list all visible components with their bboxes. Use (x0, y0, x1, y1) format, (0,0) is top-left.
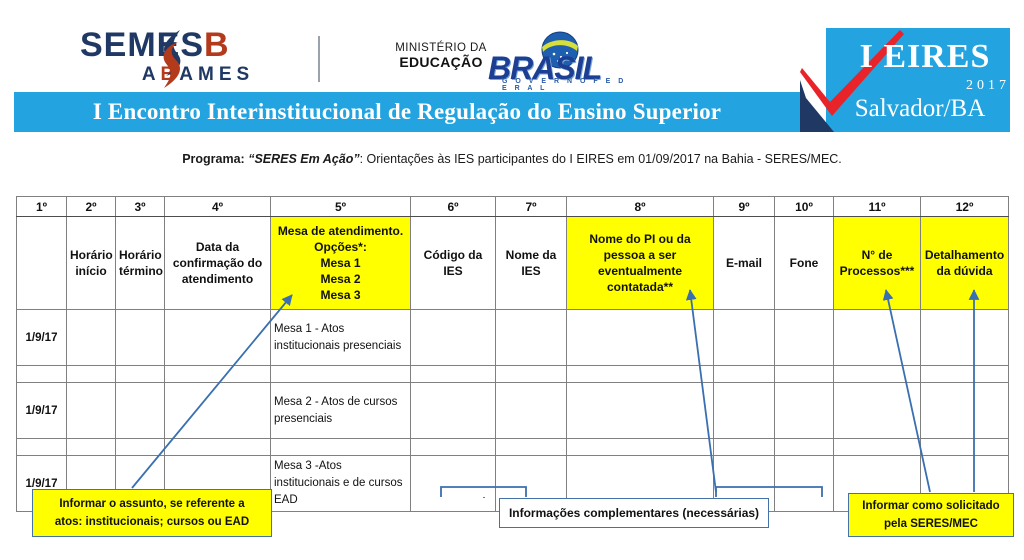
header-cell-nome-ies: Nome da IES (496, 217, 567, 310)
callout-left-line1: Informar o assunto, se referente a (55, 495, 249, 513)
spacer-cell (271, 366, 411, 383)
brasil-federal-government-logo: BRASIL G O V E R N O F E D E R A L (488, 30, 628, 88)
header-cell-detalhamento: Detalhamento da dúvida (921, 217, 1009, 310)
callout-right-line2: pela SERES/MEC (862, 515, 999, 533)
cell-num-processos[interactable] (834, 310, 921, 366)
header-line: Código da IES (414, 247, 492, 279)
table-spacer-row (17, 366, 1009, 383)
col-num-11: 11º (834, 197, 921, 217)
col-num-10: 10º (775, 197, 834, 217)
col-num-9: 9º (714, 197, 775, 217)
header-line: IES (499, 263, 563, 279)
schedule-table-wrapper: 1º 2º 3º 4º 5º 6º 7º 8º 9º 10º 11º 12º H… (16, 196, 1008, 512)
spacer-cell (165, 439, 271, 456)
semesb-logo: SEMESB ABAMES (80, 28, 310, 98)
header-line: início (70, 263, 112, 279)
spacer-cell (567, 439, 714, 456)
cell-horario-inicio[interactable] (67, 310, 116, 366)
table-spacer-row (17, 439, 1009, 456)
spacer-cell (714, 366, 775, 383)
spacer-cell (714, 439, 775, 456)
spacer-cell (411, 439, 496, 456)
cell-mesa[interactable]: Mesa 2 - Atos de cursos presenciais (271, 383, 411, 439)
header-line: pessoa a ser (570, 247, 710, 263)
col-num-4: 4º (165, 197, 271, 217)
semesb-wordmark: SEMESB (80, 28, 310, 62)
header-line: atendimento (168, 271, 267, 287)
cell-fone[interactable] (775, 310, 834, 366)
spacer-cell (116, 366, 165, 383)
col-num-12: 12º (921, 197, 1009, 217)
cell-fone[interactable] (775, 456, 834, 512)
header-line: Mesa 2 (274, 271, 407, 287)
header-line: Data da (168, 239, 267, 255)
header-line: contatada** (570, 279, 710, 295)
header-cell-num-processos: N° de Processos*** (834, 217, 921, 310)
spacer-cell (567, 366, 714, 383)
callout-seres-mec-instructions: Informar como solicitado pela SERES/MEC (848, 493, 1014, 537)
table-row[interactable]: 1/9/17 Mesa 1 - Atos institucionais pres… (17, 310, 1009, 366)
header-line: Nome do PI ou da (570, 231, 710, 247)
cell-mesa[interactable]: Mesa 1 - Atos institucionais presenciais (271, 310, 411, 366)
header-cell-horario-inicio: Horário início (67, 217, 116, 310)
spacer-cell (17, 366, 67, 383)
header-cell-fone: Fone (775, 217, 834, 310)
cell-nome-ies[interactable] (496, 383, 567, 439)
mec-line2: EDUCAÇÃO (388, 55, 494, 70)
header-line: Mesa 1 (274, 255, 407, 271)
spacer-cell (271, 439, 411, 456)
program-label: Programa: (182, 152, 245, 166)
cell-nome-pi[interactable] (567, 310, 714, 366)
header-cell-codigo-ies: Código da IES (411, 217, 496, 310)
program-rest: : Orientações às IES participantes do I … (360, 152, 842, 166)
spacer-cell (411, 366, 496, 383)
event-title: I Encontro Interinstitucional de Regulaç… (14, 92, 800, 132)
header-cell-horario-termino: Horário término (116, 217, 165, 310)
callout-mid-text: Informações complementares (necessárias) (509, 506, 759, 520)
eires-year: 2017 (840, 78, 1024, 94)
mec-logo: MINISTÉRIO DA EDUCAÇÃO (388, 42, 494, 78)
cell-email[interactable] (714, 383, 775, 439)
callout-informacoes-complementares: Informações complementares (necessárias) (499, 498, 769, 528)
header-cell-email: E-mail (714, 217, 775, 310)
row-date: 1/9/17 (17, 310, 67, 366)
spacer-cell (496, 439, 567, 456)
header-cell-mesa-atendimento: Mesa de atendimento. Opções*: Mesa 1 Mes… (271, 217, 411, 310)
header-line: eventualmente (570, 263, 710, 279)
col-num-7: 7º (496, 197, 567, 217)
cell-fone[interactable] (775, 383, 834, 439)
callout-left-line2: atos: institucionais; cursos ou EAD (55, 513, 249, 531)
header-line: Opções*: (274, 239, 407, 255)
row-date: 1/9/17 (17, 383, 67, 439)
header-divider (318, 36, 320, 82)
eires-city: Salvador/BA (830, 96, 1010, 121)
col-num-5: 5º (271, 197, 411, 217)
cell-detalhamento[interactable] (921, 383, 1009, 439)
spacer-cell (496, 366, 567, 383)
spacer-cell (921, 439, 1009, 456)
col-num-3: 3º (116, 197, 165, 217)
cell-horario-inicio[interactable] (67, 383, 116, 439)
page-header: SEMESB ABAMES MINISTÉRIO DA EDUCAÇÃO BRA… (0, 0, 1024, 145)
header-line: término (119, 263, 161, 279)
col-num-2: 2º (67, 197, 116, 217)
header-cell-1 (17, 217, 67, 310)
schedule-table: 1º 2º 3º 4º 5º 6º 7º 8º 9º 10º 11º 12º H… (16, 196, 1009, 512)
col-num-6: 6º (411, 197, 496, 217)
program-quoted-title: “SERES Em Ação” (248, 152, 359, 166)
cell-detalhamento[interactable] (921, 310, 1009, 366)
flame-icon (150, 28, 194, 90)
header-line: Detalhamento (924, 247, 1005, 263)
header-line: Mesa de atendimento. (274, 223, 407, 239)
column-header-row: Horário início Horário término Data da c… (17, 217, 1009, 310)
spacer-cell (67, 366, 116, 383)
spacer-cell (834, 366, 921, 383)
header-cell-nome-pi: Nome do PI ou da pessoa a ser eventualme… (567, 217, 714, 310)
spacer-cell (921, 366, 1009, 383)
spacer-cell (775, 366, 834, 383)
eires-logo: I EIRES 2017 Salvador/BA (800, 28, 1010, 132)
cell-codigo-ies[interactable] (411, 456, 496, 512)
header-line: Processos*** (837, 263, 917, 279)
cell-num-processos[interactable] (834, 383, 921, 439)
cell-codigo-ies[interactable] (411, 383, 496, 439)
mec-line1: MINISTÉRIO DA (388, 42, 494, 55)
spacer-cell (775, 439, 834, 456)
cell-data-confirmacao[interactable] (165, 383, 271, 439)
header-line: E-mail (717, 255, 771, 271)
header-line: Mesa 3 (274, 287, 407, 303)
cell-nome-pi[interactable] (567, 383, 714, 439)
program-description: Programa: “SERES Em Ação”: Orientações à… (0, 152, 1024, 166)
spacer-cell (116, 439, 165, 456)
brasil-subtitle: G O V E R N O F E D E R A L (502, 78, 630, 92)
spacer-cell (165, 366, 271, 383)
eires-title: I EIRES (840, 40, 1010, 74)
header-line: N° de (837, 247, 917, 263)
col-num-8: 8º (567, 197, 714, 217)
column-number-row: 1º 2º 3º 4º 5º 6º 7º 8º 9º 10º 11º 12º (17, 197, 1009, 217)
col-num-1: 1º (17, 197, 67, 217)
cell-horario-termino[interactable] (116, 310, 165, 366)
callout-mesa-instructions: Informar o assunto, se referente a atos:… (32, 489, 272, 537)
header-line: Fone (778, 255, 830, 271)
header-line: Horário (70, 247, 112, 263)
spacer-cell (17, 439, 67, 456)
spacer-cell (834, 439, 921, 456)
abames-wordmark: ABAMES (80, 65, 310, 84)
event-title-band: I Encontro Interinstitucional de Regulaç… (14, 92, 800, 132)
cell-mesa[interactable]: Mesa 3 -Atos institucionais e de cursos … (271, 456, 411, 512)
header-line: da dúvida (924, 263, 1005, 279)
header-cell-data-confirmacao: Data da confirmação do atendimento (165, 217, 271, 310)
cell-codigo-ies[interactable] (411, 310, 496, 366)
header-line: Nome da (499, 247, 563, 263)
header-line: confirmação do (168, 255, 267, 271)
header-line: Horário (119, 247, 161, 263)
spacer-cell (67, 439, 116, 456)
cell-horario-termino[interactable] (116, 383, 165, 439)
table-row[interactable]: 1/9/17 Mesa 2 - Atos de cursos presencia… (17, 383, 1009, 439)
cell-data-confirmacao[interactable] (165, 310, 271, 366)
callout-right-line1: Informar como solicitado (862, 497, 999, 515)
cell-email[interactable] (714, 310, 775, 366)
cell-nome-ies[interactable] (496, 310, 567, 366)
